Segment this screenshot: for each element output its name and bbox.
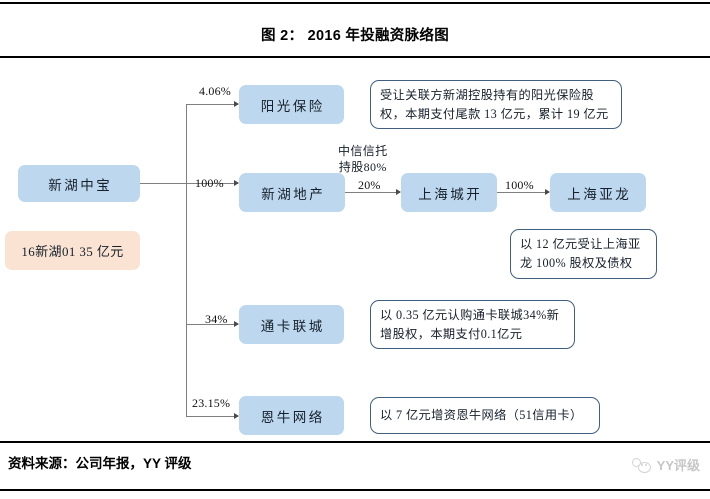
node-bond-16xinhu01[interactable]: 16新湖01 35 亿元 [5, 231, 140, 270]
source-text: 资料来源：公司年报，YY 评级 [8, 452, 192, 472]
yy-rating-logo: YY评级 [632, 455, 700, 474]
node-shanghai-yalong[interactable]: 上海亚龙 [550, 173, 646, 212]
annotation-citic-trust-line1: 中信信托 [338, 144, 388, 158]
node-enniu-network[interactable]: 恩牛网络 [239, 396, 344, 435]
annotation-citic-trust-line2: 持股80% [339, 160, 387, 174]
node-xinhu-zhongbao[interactable]: 新湖中宝 [18, 165, 140, 202]
note-enniu: 以 7 亿元增资恩牛网络（51信用卡） [370, 397, 600, 434]
edge-label-yalong: 100% [505, 178, 534, 193]
note-tongka: 以 0.35 亿元认购通卡联城34%新增股权，本期支付0.1亿元 [370, 300, 575, 349]
node-shanghai-chengkai[interactable]: 上海城开 [401, 173, 497, 212]
bottom-rule [0, 489, 710, 491]
edge-label-tongka: 34% [205, 312, 228, 327]
note-yalong: 以 12 亿元受让上海亚龙 100% 股权及债权 [510, 229, 657, 279]
figure-canvas: 图 2： 2016 年投融资脉络图 4.06% 100% 34% 23.15% … [0, 0, 710, 499]
footer-rule [0, 441, 710, 443]
yy-logo-icon [632, 457, 652, 472]
header-rule [0, 56, 710, 58]
connector-branch-enniu [186, 416, 238, 417]
edge-label-enniu: 23.15% [192, 396, 230, 411]
edge-label-chengkai: 20% [358, 178, 381, 193]
connector-branch-sunshine [186, 104, 238, 105]
node-xinhu-real-estate[interactable]: 新湖地产 [239, 173, 345, 212]
edge-label-sunshine: 4.06% [199, 84, 231, 99]
yy-logo-text: YY评级 [657, 455, 700, 474]
node-sunshine-insurance[interactable]: 阳光保险 [239, 85, 344, 124]
connector-root-stub [140, 183, 186, 184]
figure-title: 图 2： 2016 年投融资脉络图 [0, 24, 710, 45]
note-sunshine: 受让关联方新湖控股持有的阳光保险股权，本期支付尾款 13 亿元，累计 19 亿元 [370, 80, 622, 129]
node-tongka-liancheng[interactable]: 通卡联城 [239, 305, 344, 344]
annotation-citic-trust: 中信信托 持股80% [338, 143, 388, 175]
top-rule [0, 2, 710, 4]
edge-label-realestate: 100% [195, 176, 224, 191]
connector-trunk [186, 104, 187, 416]
